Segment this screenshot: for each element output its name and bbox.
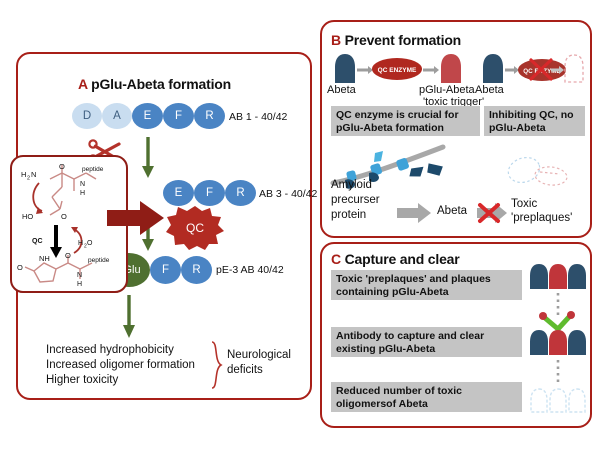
svg-text:peptide: peptide	[82, 166, 104, 173]
preplaque-label-line1: Toxic	[511, 198, 537, 211]
residue-r2: R	[225, 180, 256, 206]
app-label-line2: precurser	[331, 194, 380, 207]
panel-c-title: C Capture and clear	[331, 251, 460, 267]
svg-text:N: N	[80, 181, 85, 188]
residue-d: D	[72, 103, 102, 129]
faded-preplaque-illustration	[504, 152, 574, 194]
blocked-preplaque-arrow	[477, 203, 507, 223]
panel-c-row-2-box: Antibody to capture and clear existing p…	[331, 327, 522, 357]
neurological-deficits-label-line2: deficits	[227, 364, 263, 377]
svg-text:O: O	[65, 251, 71, 260]
green-down-arrow-icon-3	[122, 295, 136, 339]
residue-f2: F	[194, 180, 225, 206]
svg-text:peptide: peptide	[88, 257, 110, 264]
figure-root: A pGlu-Abeta formation D A E F R AB 1 - …	[0, 0, 600, 450]
plaque-illustration-middle	[527, 330, 589, 356]
panel-b-grey-box-right: Inhibiting QC, no pGlu-Abeta	[484, 106, 585, 136]
neurological-deficits-bracket	[210, 341, 224, 389]
outcome-hydrophobicity: Increased hydrophobicity	[46, 344, 174, 357]
app-label-line1: Amyloid	[331, 179, 372, 192]
pglu-abeta-dome-red	[440, 54, 462, 84]
grey-right-arrow-icon-2	[423, 66, 439, 74]
grey-right-arrow-icon-1	[357, 66, 373, 74]
plaque-illustration-bottom-faded	[527, 388, 589, 414]
panel-c-row-3-line2: oligomersof Abeta	[336, 398, 518, 411]
residue-e2: E	[163, 180, 194, 206]
chain-label-ab-3-40-42: AB 3 - 40/42	[259, 188, 317, 200]
svg-text:QC: QC	[32, 238, 43, 245]
residue-e1: E	[132, 103, 163, 129]
svg-text:O: O	[59, 162, 65, 171]
abeta-product-label: Abeta	[437, 205, 467, 218]
panel-a-title: A pGlu-Abeta formation	[78, 76, 231, 92]
abeta-label-2: Abeta	[475, 84, 504, 96]
outcome-toxicity: Higher toxicity	[46, 374, 118, 387]
residue-r1: R	[194, 103, 225, 129]
panel-c-row-1-line2: containing pGlu-Abeta	[336, 286, 518, 299]
panel-c-row-2-line2: existing pGlu-Abeta	[336, 343, 518, 356]
qc-burst-label: QC	[186, 221, 204, 235]
panel-b-box-left-line1: QC enzyme is crucial for	[336, 109, 476, 122]
chain-label-ab-1-40-42: AB 1 - 40/42	[229, 111, 287, 123]
residue-a: A	[102, 103, 132, 129]
svg-text:N: N	[31, 170, 36, 179]
panel-b-letter: B	[331, 32, 341, 48]
svg-text:O: O	[87, 240, 93, 247]
svg-text:H: H	[78, 240, 83, 247]
panel-b-box-right-line1: Inhibiting QC, no	[489, 109, 581, 122]
qc-enzyme-oval-active: QC ENZYME	[372, 58, 422, 80]
abeta-dome-navy-1	[334, 54, 356, 84]
svg-text:N: N	[77, 272, 82, 279]
panel-b-box-right-line2: pGlu-Abeta	[489, 122, 581, 135]
svg-text:H: H	[80, 190, 85, 197]
dotted-connector-2	[556, 360, 560, 384]
grey-right-arrow-icon-3	[505, 66, 519, 74]
panel-b-grey-box-left: QC enzyme is crucial for pGlu-Abeta form…	[331, 106, 480, 136]
svg-text:NH: NH	[39, 254, 50, 263]
panel-a-letter: A	[78, 76, 87, 92]
plaque-illustration-top	[527, 264, 589, 290]
residue-r3: R	[181, 256, 212, 284]
panel-c-row-1-box: Toxic 'preplaques' and plaques containin…	[331, 270, 522, 300]
preplaque-label-line2: 'preplaques'	[511, 212, 572, 225]
app-label-line3: protein	[331, 209, 366, 222]
panel-c-row-2-line1: Antibody to capture and clear	[336, 330, 518, 343]
svg-text:HO: HO	[22, 212, 33, 221]
panel-b-title: B Prevent formation	[331, 32, 461, 48]
panel-c-letter: C	[331, 251, 341, 267]
svg-text:2: 2	[27, 176, 30, 182]
panel-c-row-3-line1: Reduced number of toxic	[336, 385, 518, 398]
outcome-oligomer-formation: Increased oligomer formation	[46, 359, 195, 372]
grey-right-arrow-icon-5	[397, 203, 431, 223]
panel-a-title-text: pGlu-Abeta formation	[91, 76, 231, 92]
chain-label-pe-3-ab-40-42: pE-3 AB 40/42	[216, 264, 284, 276]
neurological-deficits-label-line1: Neurological	[227, 349, 291, 362]
panel-b-box-left-line2: pGlu-Abeta formation	[336, 122, 476, 135]
panel-b-title-text: Prevent formation	[345, 32, 461, 48]
svg-text:O: O	[61, 212, 67, 221]
svg-text:H: H	[77, 281, 82, 288]
abeta-dome-navy-2	[482, 54, 504, 84]
svg-text:H: H	[21, 170, 26, 179]
green-down-arrow-icon-1	[141, 137, 155, 179]
panel-c-row-1-line1: Toxic 'preplaques' and plaques	[336, 273, 518, 286]
dark-red-right-arrow-icon	[107, 200, 165, 236]
residue-f3: F	[150, 256, 181, 284]
panel-c-title-text: Capture and clear	[345, 251, 460, 267]
abeta-label-1: Abeta	[327, 84, 356, 96]
pglu-abeta-label-line1: pGlu-Abeta	[419, 84, 475, 96]
svg-text:O: O	[17, 263, 23, 272]
qc-enzyme-burst-icon: QC	[165, 205, 225, 251]
qc-enzyme-oval-label-1: QC ENZYME	[378, 67, 417, 74]
residue-f1: F	[163, 103, 194, 129]
panel-c-row-3-box: Reduced number of toxic oligomersof Abet…	[331, 382, 522, 412]
absent-pglu-abeta-outline	[563, 54, 585, 84]
